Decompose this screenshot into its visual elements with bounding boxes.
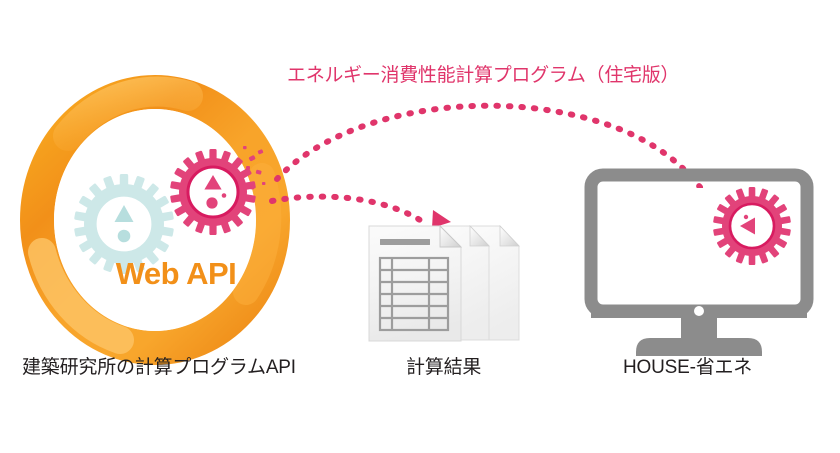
monitor-neck xyxy=(681,318,717,340)
program-title: エネルギー消費性能計算プログラム（住宅版） xyxy=(287,66,679,85)
webapi-badge: Web API xyxy=(106,258,246,289)
arrowhead-documents xyxy=(432,210,451,228)
label-api-node: 建築研究所の計算プログラムAPI xyxy=(22,358,296,377)
connector-api-to-documents xyxy=(272,197,451,228)
label-house-node: HOUSE-省エネ xyxy=(623,358,752,377)
dotted-arc-documents xyxy=(272,197,420,220)
monitor-power-dot xyxy=(694,306,704,316)
document-stack-icon xyxy=(369,226,519,341)
label-documents-node: 計算結果 xyxy=(406,358,481,377)
document-fold-back xyxy=(500,226,519,246)
diagram-canvas: エネルギー消費性能計算プログラム（住宅版） Web API 建築研究所の計算プロ… xyxy=(0,0,840,453)
monitor-base xyxy=(636,338,762,356)
document-title-bar xyxy=(380,239,430,245)
api-node-graphic xyxy=(37,92,273,348)
monitor-icon xyxy=(591,175,807,356)
